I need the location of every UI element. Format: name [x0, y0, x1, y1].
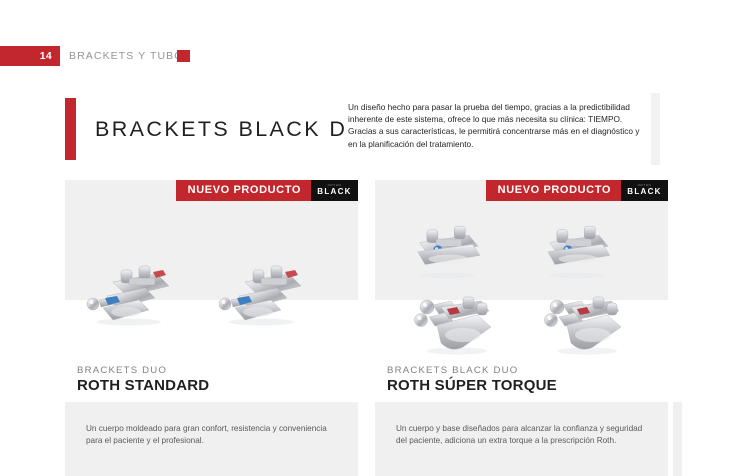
product-description-box: Un cuerpo y base diseñados para alcanzar… [375, 402, 668, 476]
title-accent-bar [65, 98, 76, 160]
bracket-photo [405, 215, 489, 283]
product-card[interactable]: NUEVO PRODUCTO ORTHO BLACK BRACKETS DUO … [65, 180, 358, 476]
brand-badge: ORTHO BLACK [621, 180, 668, 201]
product-image-box: NUEVO PRODUCTO ORTHO BLACK [375, 180, 668, 360]
brand-badge: ORTHO BLACK [311, 180, 358, 201]
product-image-grid [65, 180, 358, 360]
title-description: Un diseño hecho para pasar la prueba del… [348, 101, 640, 150]
product-badges: NUEVO PRODUCTO ORTHO BLACK [176, 180, 358, 201]
card-side-strip [673, 402, 682, 476]
bracket-photo [83, 252, 175, 326]
brand-badge-label: BLACK [621, 187, 668, 196]
title-description-box: Un diseño hecho para pasar la prueba del… [348, 93, 659, 165]
product-badges: NUEVO PRODUCTO ORTHO BLACK [486, 180, 668, 201]
running-header: 14 BRACKETS Y TUBOS [0, 46, 732, 66]
bracket-photo [537, 283, 629, 357]
product-description: Un cuerpo y base diseñados para alcanzar… [396, 423, 646, 446]
product-description-box: Un cuerpo moldeado para gran confort, re… [65, 402, 358, 476]
bracket-photo [535, 215, 619, 283]
product-image-grid [375, 180, 668, 360]
product-kicker: BRACKETS DUO [77, 365, 167, 376]
section-title: BRACKETS Y TUBOS [69, 46, 192, 66]
product-card[interactable]: NUEVO PRODUCTO ORTHO BLACK BRACKETS BLAC… [375, 180, 668, 476]
page-title: BRACKETS BLACK DUO [95, 93, 384, 165]
brand-badge-label: BLACK [311, 187, 358, 196]
product-cards: NUEVO PRODUCTO ORTHO BLACK BRACKETS DUO … [0, 180, 732, 476]
bracket-photo [407, 283, 499, 357]
product-title: ROTH SÚPER TORQUE [387, 377, 557, 394]
title-band-side-strip [651, 93, 660, 165]
product-kicker: BRACKETS BLACK DUO [387, 365, 518, 376]
header-accent-square [177, 50, 190, 62]
new-product-badge: NUEVO PRODUCTO [486, 180, 621, 201]
title-band: BRACKETS BLACK DUO Un diseño hecho para … [65, 93, 659, 165]
title-box: BRACKETS BLACK DUO [76, 93, 348, 165]
product-description: Un cuerpo moldeado para gran confort, re… [86, 423, 336, 446]
new-product-badge: NUEVO PRODUCTO [176, 180, 311, 201]
page-number: 14 [0, 46, 52, 66]
product-title: ROTH STANDARD [77, 377, 209, 394]
bracket-photo [215, 252, 307, 326]
product-image-box: NUEVO PRODUCTO ORTHO BLACK [65, 180, 358, 360]
